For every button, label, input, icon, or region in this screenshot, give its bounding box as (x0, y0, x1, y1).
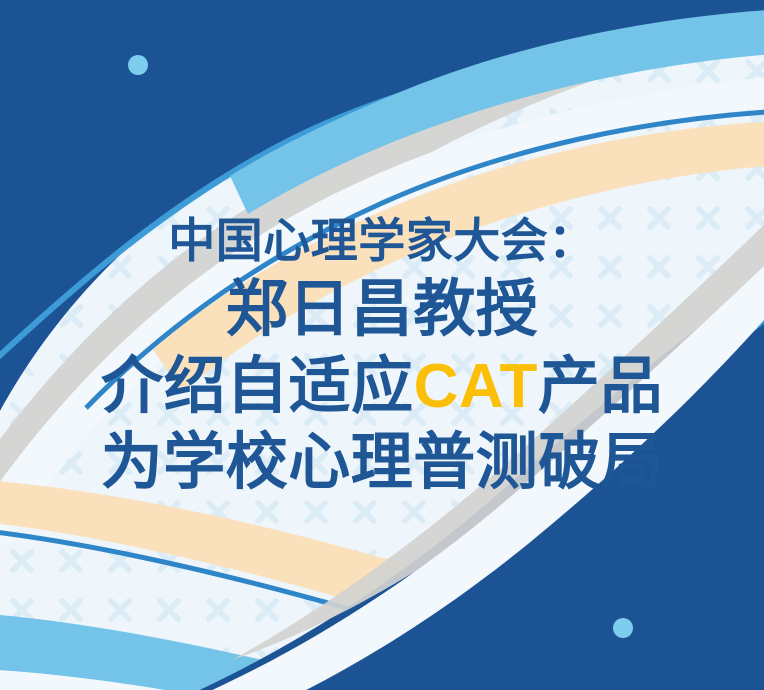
poster-canvas: 中国心理学家大会： 郑日昌教授 介绍自适应CAT产品 为学校心理普测破局 (0, 0, 764, 690)
poster-title-block: 中国心理学家大会： 郑日昌教授 介绍自适应CAT产品 为学校心理普测破局 (0, 0, 764, 690)
title-line-1: 中国心理学家大会： (168, 216, 596, 266)
title-line-3: 介绍自适应CAT产品 (101, 354, 663, 420)
title-line-3-highlight-cat: CAT (414, 352, 538, 421)
title-line-2: 郑日昌教授 (226, 277, 539, 343)
title-line-4: 为学校心理普测破局 (101, 430, 664, 496)
title-line-3-prefix: 介绍自适应 (101, 352, 414, 421)
title-line-3-suffix: 产品 (538, 352, 663, 421)
